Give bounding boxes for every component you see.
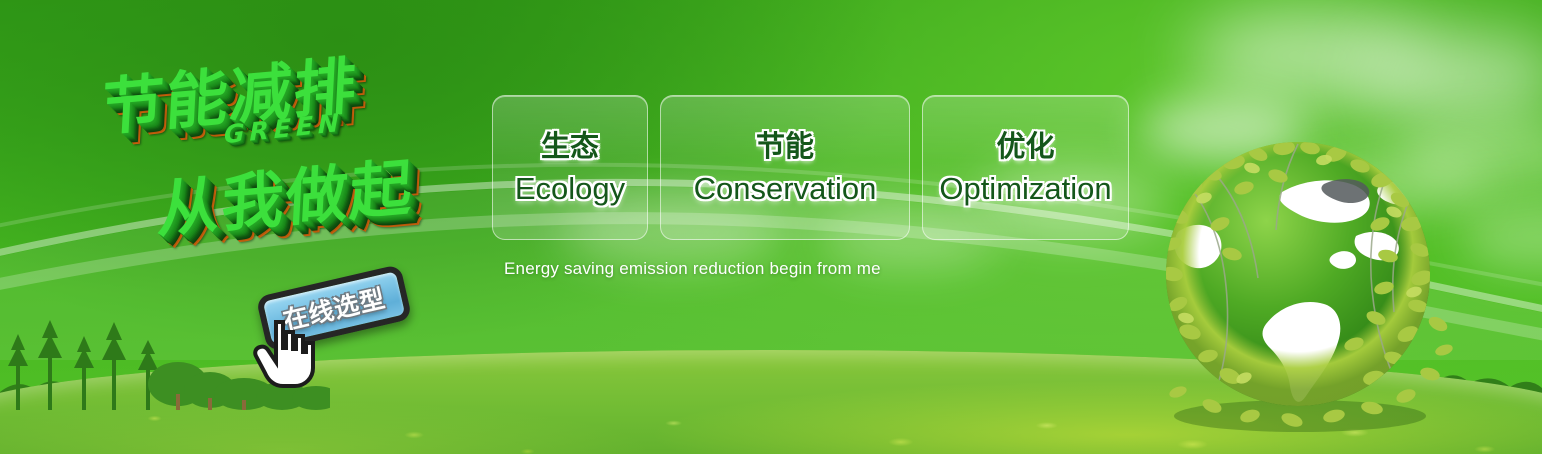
feature-card-label-zh: 生态 — [541, 132, 599, 161]
feature-card-ecology[interactable]: 生态 Ecology — [492, 95, 648, 240]
meadow-texture — [0, 350, 1542, 454]
feature-card-label-en: Ecology — [515, 173, 625, 204]
feature-card-optimization[interactable]: 优化 Optimization — [922, 95, 1129, 240]
feature-card-label-zh: 优化 — [996, 132, 1054, 161]
feature-card-label-en: Optimization — [939, 173, 1111, 204]
grass-meadow-icon — [0, 350, 1542, 454]
online-selection-button-label: 在线选型 — [279, 279, 388, 337]
eco-promo-banner: 节能减排 GREEN 从我做起 生态 Ecology 节能 Conservati… — [0, 0, 1542, 454]
feature-card-label-zh: 节能 — [756, 132, 814, 161]
feature-card-list: 生态 Ecology 节能 Conservation 优化 Optimizati… — [492, 95, 1129, 240]
online-selection-button[interactable]: 在线选型 — [256, 264, 413, 352]
banner-tagline: Energy saving emission reduction begin f… — [504, 259, 881, 279]
cta-area: 在线选型 — [250, 270, 435, 390]
feature-card-conservation[interactable]: 节能 Conservation — [660, 95, 910, 240]
feature-card-label-en: Conservation — [694, 173, 877, 204]
